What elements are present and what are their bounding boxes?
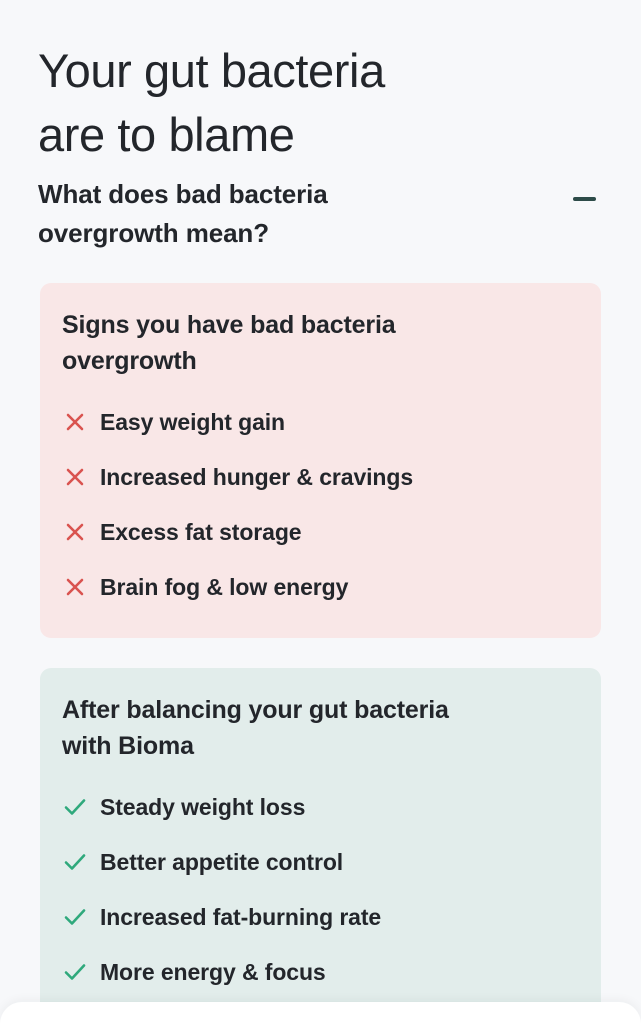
page-title: Your gut bacteria are to blame bbox=[38, 39, 578, 167]
list-item-label: Steady weight loss bbox=[100, 792, 305, 822]
list-item: Increased hunger & cravings bbox=[62, 460, 579, 493]
accordion-question-label: What does bad bacteria overgrowth mean? bbox=[38, 175, 468, 253]
x-icon bbox=[62, 574, 88, 600]
list-item-label: Brain fog & low energy bbox=[100, 572, 348, 602]
bad-bacteria-card-title: Signs you have bad bacteria overgrowth bbox=[62, 307, 579, 379]
list-item: Steady weight loss bbox=[62, 790, 579, 823]
list-item-label: Increased hunger & cravings bbox=[100, 462, 413, 492]
list-item-label: Easy weight gain bbox=[100, 407, 285, 437]
list-item: Excess fat storage bbox=[62, 515, 579, 548]
bad-bacteria-card: Signs you have bad bacteria overgrowth E… bbox=[40, 283, 601, 638]
page-root: Your gut bacteria are to blame What does… bbox=[0, 0, 641, 1024]
list-item: Increased fat-burning rate bbox=[62, 900, 579, 933]
check-icon bbox=[62, 794, 88, 820]
bioma-benefits-list: Steady weight loss Better appetite contr… bbox=[62, 790, 579, 988]
accordion-header[interactable]: What does bad bacteria overgrowth mean? bbox=[38, 175, 603, 253]
x-icon bbox=[62, 464, 88, 490]
x-icon bbox=[62, 519, 88, 545]
list-item: More energy & focus bbox=[62, 955, 579, 988]
list-item: Easy weight gain bbox=[62, 405, 579, 438]
x-icon bbox=[62, 409, 88, 435]
bottom-sheet-overlay bbox=[0, 1002, 641, 1024]
bioma-benefits-card: After balancing your gut bacteria with B… bbox=[40, 668, 601, 1023]
bioma-benefits-card-title: After balancing your gut bacteria with B… bbox=[62, 692, 579, 764]
list-item-label: Better appetite control bbox=[100, 847, 343, 877]
list-item-label: Excess fat storage bbox=[100, 517, 301, 547]
list-item-label: More energy & focus bbox=[100, 957, 326, 987]
list-item: Better appetite control bbox=[62, 845, 579, 878]
list-item: Brain fog & low energy bbox=[62, 570, 579, 603]
list-item-label: Increased fat-burning rate bbox=[100, 902, 381, 932]
check-icon bbox=[62, 959, 88, 985]
bad-bacteria-list: Easy weight gain Increased hunger & crav… bbox=[62, 405, 579, 603]
check-icon bbox=[62, 849, 88, 875]
check-icon bbox=[62, 904, 88, 930]
minus-icon bbox=[573, 197, 596, 201]
accordion-collapse-button[interactable] bbox=[567, 179, 601, 218]
